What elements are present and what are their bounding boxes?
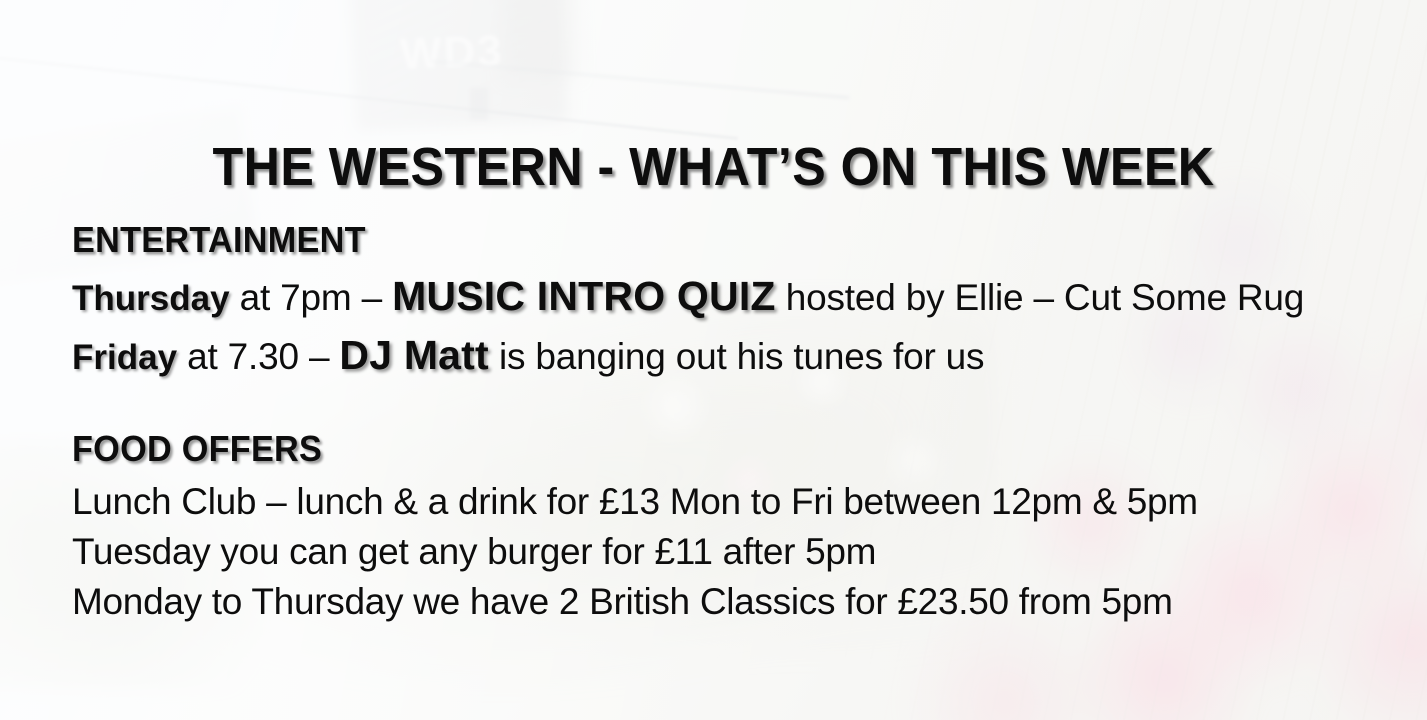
page-title: THE WESTERN - WHAT’S ON THIS WEEK [50, 140, 1377, 194]
poster-content: THE WESTERN - WHAT’S ON THIS WEEK ENTERT… [0, 0, 1427, 720]
food-offers-heading: FOOD OFFERS [72, 427, 1321, 471]
pub-whats-on-poster: WD3 THE WESTERN - WHAT’S ON THIS WEEK EN… [0, 0, 1427, 720]
food-offer-lunch-club: Lunch Club – lunch & a drink for £13 Mon… [72, 477, 1387, 527]
event-day-friday: Friday [72, 338, 177, 377]
event-time-thursday: at 7pm – [230, 277, 393, 318]
food-offer-british-classics: Monday to Thursday we have 2 British Cla… [72, 577, 1387, 627]
event-act-dj-matt: DJ Matt [339, 332, 488, 378]
event-detail-friday: is banging out his tunes for us [489, 336, 984, 377]
event-detail-thursday: hosted by Ellie – Cut Some Rug [776, 277, 1305, 318]
section-food-offers: FOOD OFFERS Lunch Club – lunch & a drink… [72, 427, 1387, 627]
food-offer-tuesday-burger: Tuesday you can get any burger for £11 a… [72, 527, 1387, 577]
entertainment-line-thursday: Thursday at 7pm – MUSIC INTRO QUIZ hoste… [72, 268, 1387, 327]
event-act-music-intro-quiz: MUSIC INTRO QUIZ [392, 273, 776, 319]
section-entertainment: ENTERTAINMENT Thursday at 7pm – MUSIC IN… [72, 218, 1387, 386]
event-time-friday: at 7.30 – [177, 336, 339, 377]
entertainment-line-friday: Friday at 7.30 – DJ Matt is banging out … [72, 327, 1387, 386]
event-day-thursday: Thursday [72, 279, 230, 318]
entertainment-heading: ENTERTAINMENT [72, 218, 1321, 262]
